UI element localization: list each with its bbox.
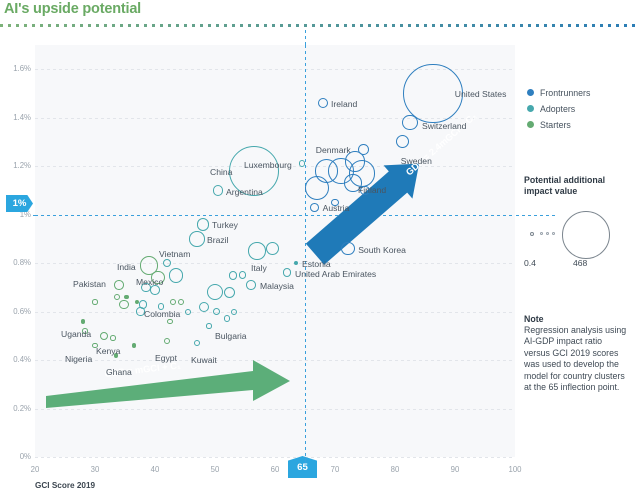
country-label: Argentina (226, 187, 263, 197)
rule-dot (272, 24, 275, 27)
size-legend-max-label: 468 (573, 258, 587, 268)
bubble-italy[interactable] (248, 242, 265, 259)
y-tick-label: 0% (20, 452, 31, 461)
bubble-pakistan[interactable] (114, 280, 124, 290)
rule-dot (64, 24, 67, 27)
rule-dot (416, 24, 419, 27)
rule-dot (440, 24, 443, 27)
rule-dot (32, 24, 35, 27)
rule-dot (560, 24, 563, 27)
x-tick-label: 50 (203, 465, 227, 474)
rule-dot (0, 24, 3, 27)
x-tick-label: 80 (383, 465, 407, 474)
rule-dot (624, 24, 627, 27)
rule-dot (528, 24, 531, 27)
country-label: Switzerland (422, 121, 466, 131)
rule-dot (288, 24, 291, 27)
country-label: Kenya (96, 346, 120, 356)
rule-dot (104, 24, 107, 27)
x-tick-label: 70 (323, 465, 347, 474)
rule-dot (400, 24, 403, 27)
rule-dot (96, 24, 99, 27)
rule-dot (568, 24, 571, 27)
rule-dot (88, 24, 91, 27)
size-legend-circle-large (562, 211, 610, 259)
rule-dot (512, 24, 515, 27)
bubble[interactable] (224, 287, 235, 298)
y-threshold-line-extension-right (516, 215, 556, 216)
rule-dot (280, 24, 283, 27)
y-tick-label: 1.4% (13, 113, 31, 122)
legend-label-starters: Starters (540, 120, 571, 130)
rule-dot (408, 24, 411, 27)
rule-dot (80, 24, 83, 27)
rule-dot (616, 24, 619, 27)
rule-dot (424, 24, 427, 27)
rule-dot (608, 24, 611, 27)
size-legend-dot-small (530, 232, 534, 236)
country-label: Ghana (106, 367, 132, 377)
x-tick-label: 60 (263, 465, 287, 474)
rule-dot (72, 24, 75, 27)
country-label: Malaysia (260, 281, 294, 291)
rule-dot (504, 24, 507, 27)
bubble[interactable] (206, 323, 212, 329)
x-tick-label: 40 (143, 465, 167, 474)
rule-dot (248, 24, 251, 27)
rule-dot (472, 24, 475, 27)
country-label: Estonia (302, 259, 331, 269)
x-tick-label: 90 (443, 465, 467, 474)
country-label: India (117, 262, 136, 272)
note-text: Regression analysis using AI-GDP impact … (524, 325, 628, 393)
country-label: Brazil (207, 235, 229, 245)
bubble[interactable] (170, 299, 176, 305)
y-threshold-line (35, 215, 515, 216)
rule-dot (128, 24, 131, 27)
legend-label-frontrunners: Frontrunners (540, 88, 590, 98)
gridline (35, 263, 515, 264)
rule-dot (632, 24, 635, 27)
size-legend-dot-mid3 (552, 232, 555, 235)
country-label: Colombia (144, 309, 180, 319)
bubble[interactable] (119, 300, 129, 310)
country-label: China (210, 167, 232, 177)
size-legend-dot-mid2 (546, 232, 549, 235)
country-label: Luxembourg (244, 160, 292, 170)
rule-dot (360, 24, 363, 27)
bubble-uganda[interactable] (81, 319, 86, 324)
y-threshold-badge: 1% (6, 195, 33, 212)
y-tick-label: 1.6% (13, 64, 31, 73)
gridline (35, 409, 515, 410)
rule-dot (312, 24, 315, 27)
country-label: Mexico (136, 277, 163, 287)
country-label: Pakistan (73, 279, 106, 289)
bubble[interactable] (178, 299, 184, 305)
bubble-malaysia[interactable] (246, 280, 256, 290)
country-label: Austria (323, 203, 350, 213)
bubble[interactable] (231, 309, 237, 315)
x-axis-label: GCI Score 2019 (35, 481, 95, 490)
country-label: Vietnam (159, 249, 190, 259)
size-legend-min-label: 0.4 (524, 258, 536, 268)
country-label: Ireland (331, 99, 357, 109)
rule-dot (432, 24, 435, 27)
bubble-austria[interactable] (310, 203, 319, 212)
legend-dot-frontrunners (527, 89, 534, 96)
x-threshold-line (305, 45, 306, 457)
bubble[interactable] (114, 294, 120, 300)
rule-dot (200, 24, 203, 27)
rule-dot (48, 24, 51, 27)
y-tick-label: 0.8% (13, 258, 31, 267)
bubble[interactable] (92, 299, 98, 305)
y-tick-label: 1.2% (13, 161, 31, 170)
rule-dot (152, 24, 155, 27)
bubble-turkey[interactable] (197, 218, 210, 231)
rule-dot (112, 24, 115, 27)
x-tick-label: 20 (23, 465, 47, 474)
rule-dot (232, 24, 235, 27)
rule-dot (456, 24, 459, 27)
rule-dot (536, 24, 539, 27)
rule-dot (168, 24, 171, 27)
rule-dot (592, 24, 595, 27)
country-label: Bulgaria (215, 331, 247, 341)
bubble-mexico[interactable] (169, 268, 184, 283)
rule-dot (496, 24, 499, 27)
rule-dot (544, 24, 547, 27)
bubble[interactable] (185, 309, 191, 315)
rule-dot (120, 24, 123, 27)
rule-dot (160, 24, 163, 27)
page-title: AI's upside potential (4, 1, 141, 17)
rule-dot (264, 24, 267, 27)
country-label: Kuwait (191, 355, 217, 365)
rule-dot (176, 24, 179, 27)
rule-dot (584, 24, 587, 27)
y-tick-label: 0.2% (13, 404, 31, 413)
rule-dot (368, 24, 371, 27)
bubble-colombia[interactable] (167, 319, 173, 325)
rule-dot (24, 24, 27, 27)
legend-label-adopters: Adopters (540, 104, 575, 114)
gridline (35, 360, 515, 361)
rule-dot (192, 24, 195, 27)
rule-dot (256, 24, 259, 27)
size-legend-title-line1: Potential additional (524, 175, 605, 186)
legend-dot-adopters (527, 105, 534, 112)
bubble-egypt[interactable] (164, 338, 170, 344)
rule-dot (8, 24, 11, 27)
rule-dot (392, 24, 395, 27)
x-threshold-badge: 65 (288, 456, 317, 478)
x-threshold-line-extension (305, 30, 306, 45)
bubble-kenya[interactable] (100, 332, 108, 340)
rule-dot (40, 24, 43, 27)
rule-dot (352, 24, 355, 27)
y-tick-label: 0.4% (13, 355, 31, 364)
country-label: Turkey (212, 220, 238, 230)
country-label: Nigeria (65, 354, 92, 364)
bubble-switzerland[interactable] (402, 115, 417, 130)
country-label: United Arab Emirates (295, 269, 376, 279)
rule-dot (480, 24, 483, 27)
country-label: United States (455, 89, 507, 99)
rule-dot (336, 24, 339, 27)
rule-dot (448, 24, 451, 27)
rule-dot (320, 24, 323, 27)
x-threshold-line-extension-bottom (305, 457, 306, 463)
rule-dot (576, 24, 579, 27)
rule-dot (216, 24, 219, 27)
bubble[interactable] (229, 271, 238, 280)
country-label: Italy (251, 263, 267, 273)
x-tick-label: 30 (83, 465, 107, 474)
rule-dot (304, 24, 307, 27)
rule-dot (328, 24, 331, 27)
size-legend-title-line2: impact value (524, 186, 577, 197)
note-heading: Note (524, 314, 544, 325)
country-label: Sweden (401, 156, 432, 166)
bubble[interactable] (110, 335, 116, 341)
country-label: Denmark (316, 145, 351, 155)
x-tick-label: 100 (503, 465, 527, 474)
rule-dot (552, 24, 555, 27)
rule-dot (464, 24, 467, 27)
rule-dot (16, 24, 19, 27)
rule-dot (488, 24, 491, 27)
rule-dot (184, 24, 187, 27)
bubble[interactable] (266, 242, 279, 255)
country-label: Egypt (155, 353, 177, 363)
country-label: South Korea (358, 245, 406, 255)
rule-dot (56, 24, 59, 27)
rule-dot (240, 24, 243, 27)
y-threshold-line-extension (33, 215, 35, 216)
gridline (35, 457, 515, 458)
country-label: Uganda (61, 329, 91, 339)
decorative-dotted-rule (0, 24, 640, 28)
rule-dot (208, 24, 211, 27)
bubble-brazil[interactable] (189, 231, 205, 247)
rule-dot (344, 24, 347, 27)
rule-dot (600, 24, 603, 27)
rule-dot (224, 24, 227, 27)
y-tick-label: 0.6% (13, 307, 31, 316)
country-label: Finland (358, 185, 386, 195)
bubble-argentina[interactable] (213, 185, 223, 195)
rule-dot (520, 24, 523, 27)
rule-dot (136, 24, 139, 27)
gridline (35, 312, 515, 313)
rule-dot (296, 24, 299, 27)
legend-dot-starters (527, 121, 534, 128)
rule-dot (144, 24, 147, 27)
size-legend-dot-mid1 (540, 232, 543, 235)
rule-dot (376, 24, 379, 27)
bubble-ireland[interactable] (318, 98, 328, 108)
rule-dot (384, 24, 387, 27)
